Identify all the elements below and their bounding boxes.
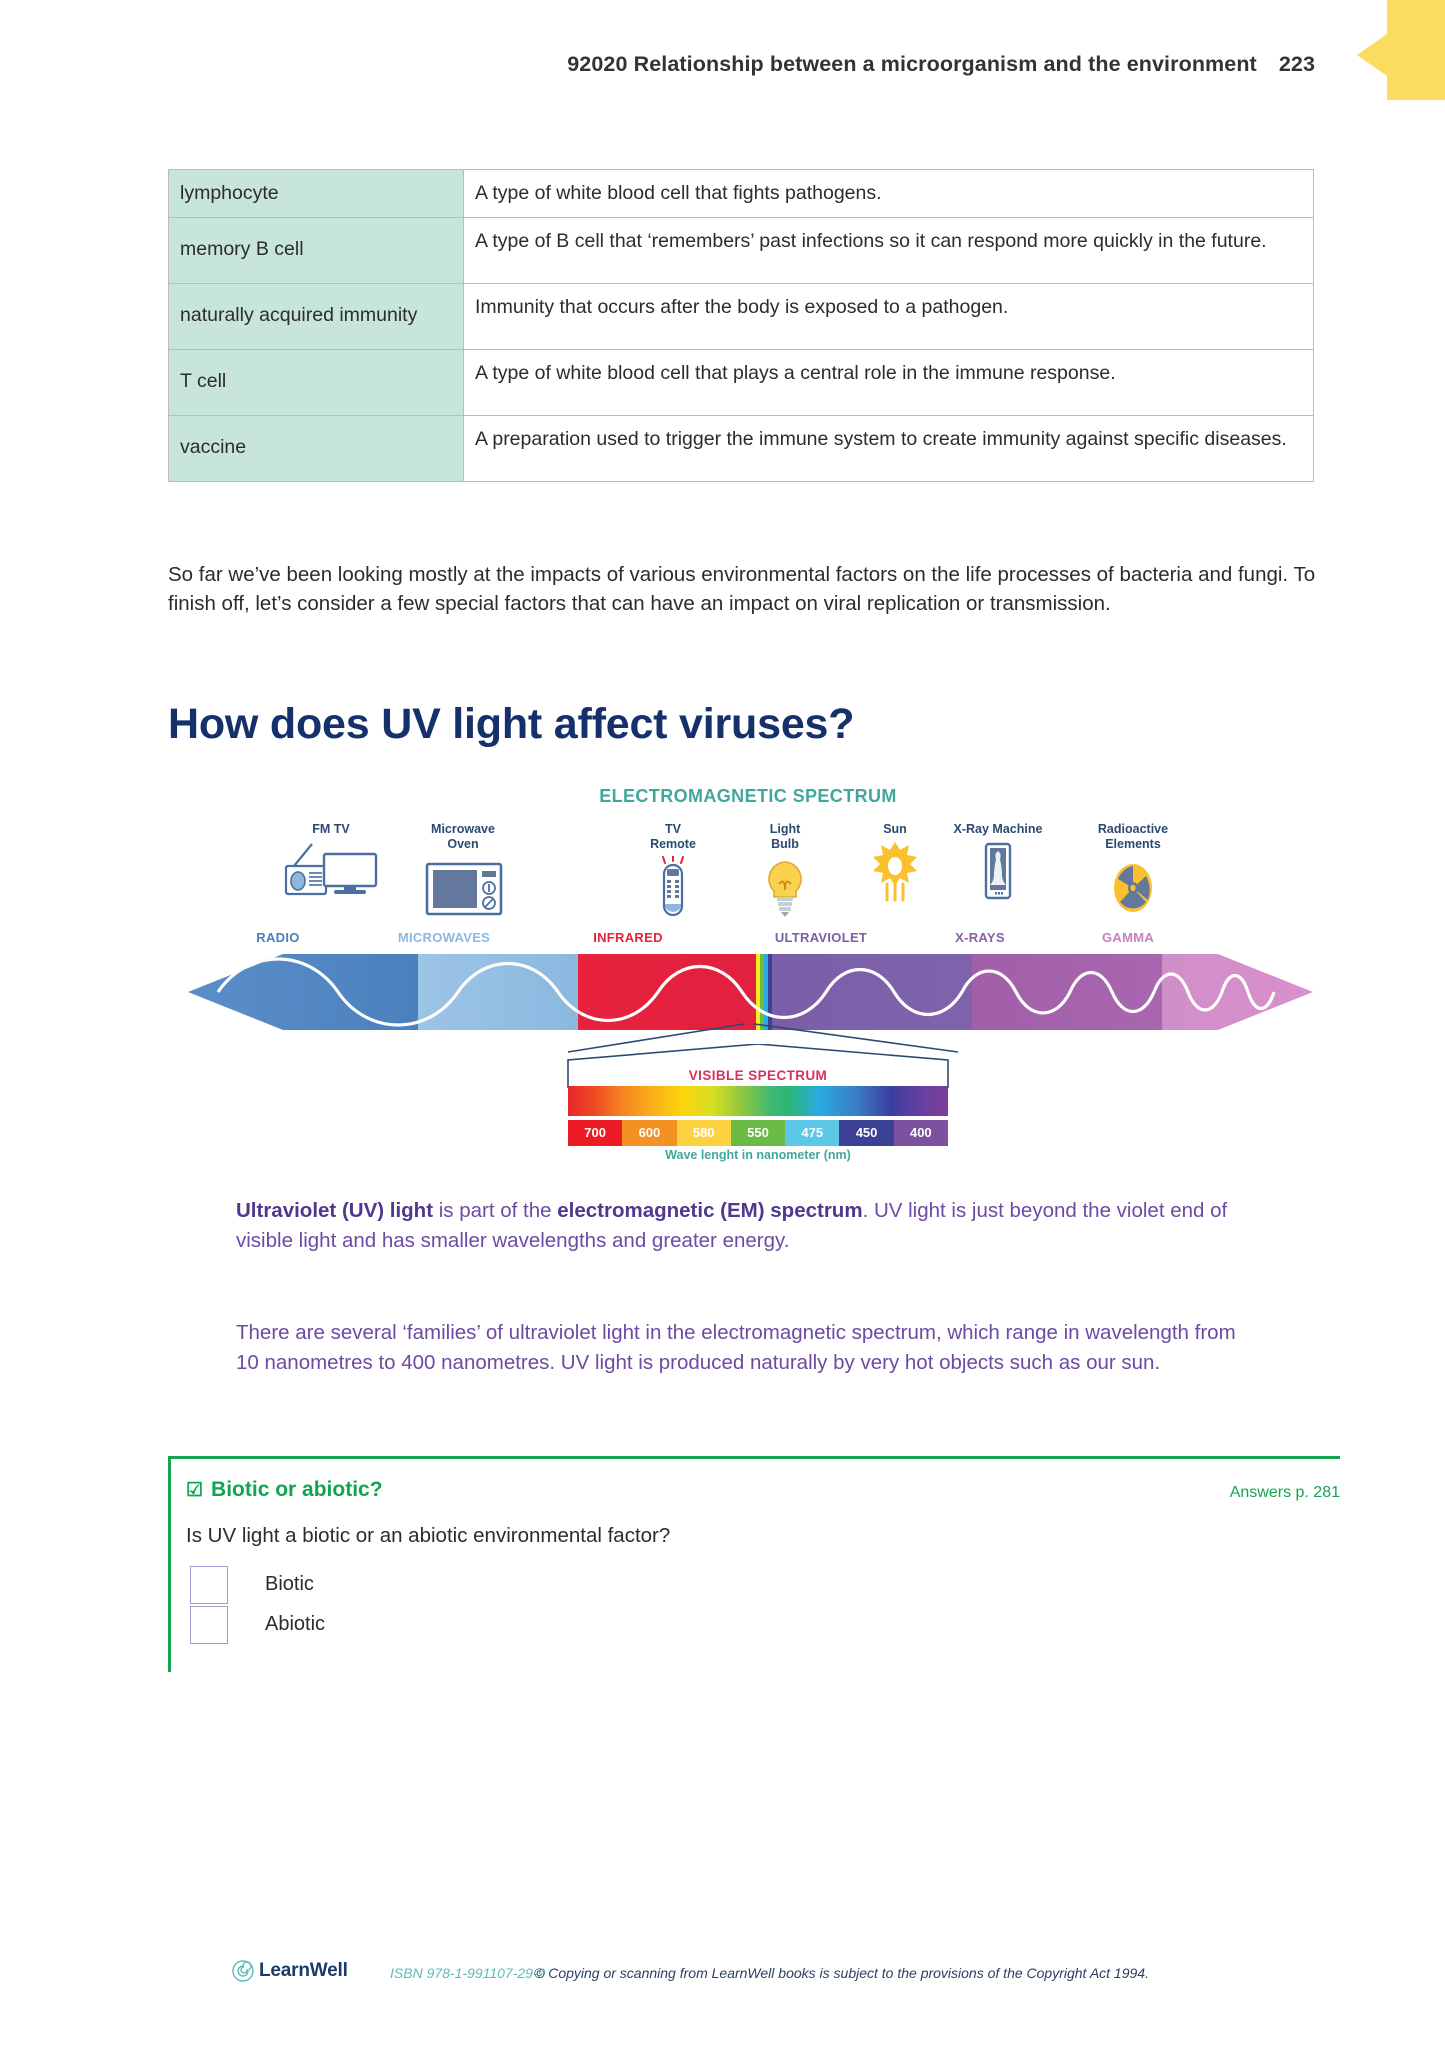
wavelength-cell: 600 [622, 1120, 676, 1146]
uv-paragraph-1: Ultraviolet (UV) light is part of the el… [236, 1196, 1256, 1255]
spectrum-source-list: FM TV [228, 822, 1268, 922]
uv-mid-text: is part of the [433, 1199, 557, 1222]
radio-television-icon [266, 840, 396, 902]
spectrum-arrow-bar [188, 954, 1313, 1030]
glossary-term: lymphocyte [169, 170, 464, 218]
option-label: Abiotic [265, 1613, 325, 1636]
wavelength-caption: Wave lenght in nanometer (nm) [558, 1148, 958, 1162]
table-row: vaccine A preparation used to trigger th… [169, 415, 1314, 481]
visible-spectrum-callout: VISIBLE SPECTRUM 700 600 580 550 475 450… [558, 1044, 958, 1164]
glossary-term: memory B cell [169, 217, 464, 283]
brand-name: LearnWell [259, 1960, 348, 1982]
activity-top-rule [168, 1456, 1340, 1459]
source-tv-remote: TV Remote [608, 822, 738, 918]
radioactive-hazard-icon [1068, 856, 1198, 918]
x-ray-machine-icon [933, 840, 1063, 902]
isbn-text: ISBN 978-1-991107-29-9 [390, 1965, 545, 1981]
source-fm-tv: FM TV [266, 822, 396, 902]
microwave-oven-icon [398, 856, 528, 918]
band-label-infrared: INFRARED [548, 930, 708, 945]
glossary-definition: A type of white blood cell that plays a … [464, 349, 1314, 415]
uv-bold-term-1: Ultraviolet (UV) light [236, 1199, 433, 1222]
figure-title: ELECTROMAGNETIC SPECTRUM [168, 786, 1328, 807]
wavelength-scale: 700 600 580 550 475 450 400 [568, 1120, 948, 1146]
page-number: 223 [1279, 52, 1315, 76]
glossary-definition: A type of B cell that ‘remembers’ past i… [464, 217, 1314, 283]
band-label-gamma: GAMMA [1048, 930, 1208, 945]
source-label: Microwave Oven [398, 822, 528, 853]
electromagnetic-spectrum-figure: ELECTROMAGNETIC SPECTRUM FM TV [168, 782, 1328, 1172]
learnwell-spiral-logo-icon [232, 1960, 254, 1982]
document-page: 92020 Relationship between a microorgani… [0, 0, 1445, 2049]
wavelength-cell: 475 [785, 1120, 839, 1146]
glossary-term: T cell [169, 349, 464, 415]
activity-question: Is UV light a biotic or an abiotic envir… [186, 1524, 670, 1548]
activity-title-text: Biotic or abiotic? [211, 1478, 383, 1501]
uv-bold-term-2: electromagnetic (EM) spectrum [557, 1199, 862, 1222]
source-label: FM TV [266, 822, 396, 837]
thumb-tab-body [1387, 0, 1445, 100]
checkbox-check-icon: ☑ [186, 1480, 203, 1501]
band-label-radio: RADIO [198, 930, 358, 945]
checkbox-abiotic[interactable] [190, 1606, 228, 1644]
wavelength-cell: 700 [568, 1120, 622, 1146]
activity-left-rule [168, 1456, 171, 1672]
thumb-tab-notch [1357, 34, 1387, 76]
band-label-ultraviolet: ULTRAVIOLET [741, 930, 901, 945]
wavelength-cell: 580 [677, 1120, 731, 1146]
page-header: 92020 Relationship between a microorgani… [0, 52, 1315, 77]
page-title: How does UV light affect viruses? [168, 700, 854, 749]
table-row: naturally acquired immunity Immunity tha… [169, 283, 1314, 349]
wavelength-cell: 400 [894, 1120, 948, 1146]
source-label: X-Ray Machine [933, 822, 1063, 837]
source-x-ray-machine: X-Ray Machine [933, 822, 1063, 902]
glossary-term: vaccine [169, 415, 464, 481]
page-footer: LearnWell ISBN 978-1-991107-29-9 © Copyi… [232, 1958, 1232, 1988]
glossary-definition: Immunity that occurs after the body is e… [464, 283, 1314, 349]
header-title: 92020 Relationship between a microorgani… [567, 52, 1257, 76]
visible-spectrum-title: VISIBLE SPECTRUM [558, 1068, 958, 1083]
uv-paragraph-2: There are several ‘families’ of ultravio… [236, 1318, 1256, 1377]
band-label-xrays: X-RAYS [900, 930, 1060, 945]
wavelength-cell: 550 [731, 1120, 785, 1146]
glossary-table: lymphocyte A type of white blood cell th… [168, 169, 1314, 482]
activity-title: ☑Biotic or abiotic? [186, 1478, 383, 1502]
wavelength-cell: 450 [839, 1120, 893, 1146]
glossary-term: naturally acquired immunity [169, 283, 464, 349]
source-microwave-oven: Microwave Oven [398, 822, 528, 918]
option-label: Biotic [265, 1573, 314, 1596]
answers-reference-link[interactable]: Answers p. 281 [1230, 1484, 1340, 1502]
table-row: memory B cell A type of B cell that ‘rem… [169, 217, 1314, 283]
table-row: lymphocyte A type of white blood cell th… [169, 170, 1314, 218]
tv-remote-icon [608, 856, 738, 918]
band-label-microwaves: MICROWAVES [364, 930, 524, 945]
activity-box: ☑Biotic or abiotic? Answers p. 281 Is UV… [168, 1456, 1340, 1672]
glossary-definition: A type of white blood cell that fights p… [464, 170, 1314, 218]
copyright-text: © Copying or scanning from LearnWell boo… [534, 1965, 1149, 1981]
table-row: T cell A type of white blood cell that p… [169, 349, 1314, 415]
source-label: Radioactive Elements [1068, 822, 1198, 853]
checkbox-biotic[interactable] [190, 1566, 228, 1604]
spectrum-band-labels: RADIO MICROWAVES INFRARED ULTRAVIOLET X-… [168, 930, 1328, 952]
visible-spectrum-gradient [568, 1086, 948, 1116]
source-radioactive-elements: Radioactive Elements [1068, 822, 1198, 918]
source-label: TV Remote [608, 822, 738, 853]
glossary-definition: A preparation used to trigger the immune… [464, 415, 1314, 481]
intro-paragraph: So far we’ve been looking mostly at the … [168, 560, 1340, 618]
